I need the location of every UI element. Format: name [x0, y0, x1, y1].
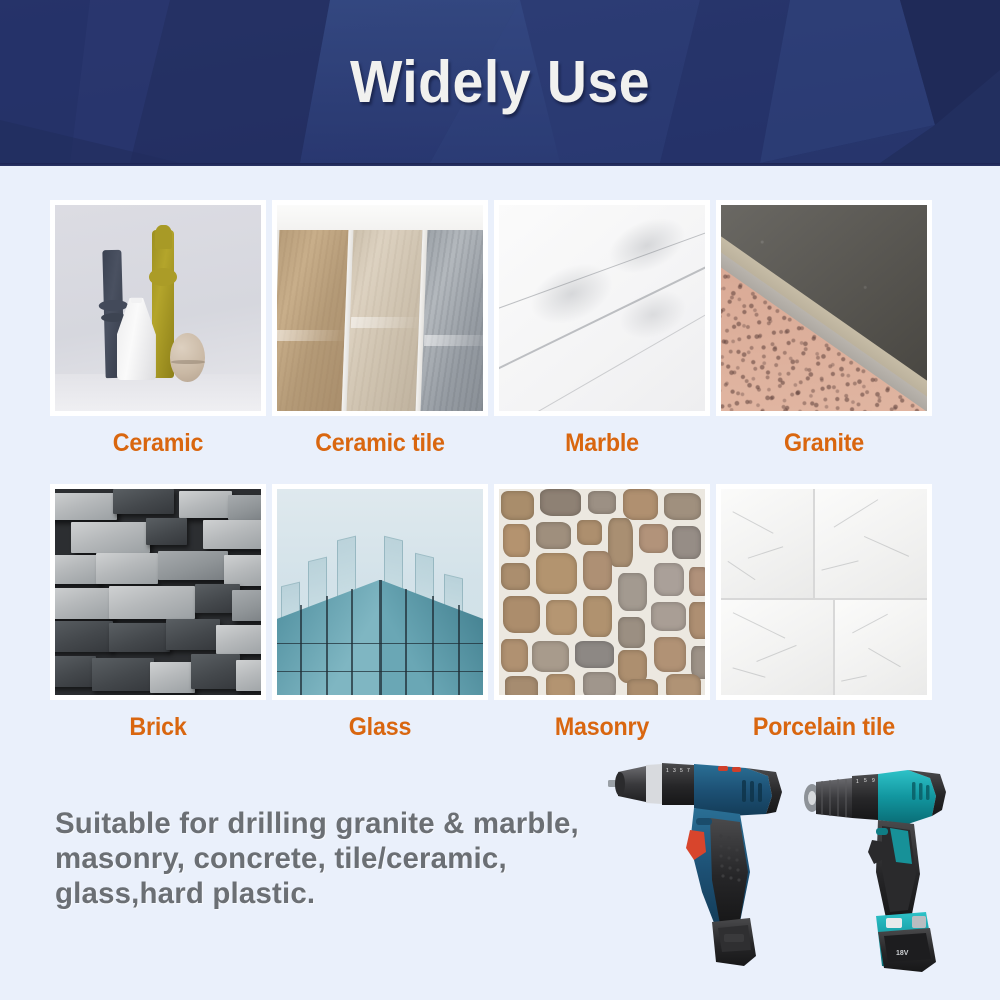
glass-building-facade-photo [277, 489, 483, 695]
thumb-frame [716, 200, 932, 416]
grey-brick-wall-photo [55, 489, 261, 695]
thumb-frame [50, 484, 266, 700]
suitability-line-2: masonry, concrete, tile/ceramic, [55, 841, 623, 876]
material-card-ceramic-tile: Ceramic tile [272, 200, 488, 458]
material-card-porcelain-tile: Porcelain tile [716, 484, 932, 742]
banner-divider [0, 163, 1000, 166]
stone-masonry-wall-photo [499, 489, 705, 695]
svg-text:1: 1 [856, 779, 859, 785]
material-card-marble: Marble [494, 200, 710, 458]
page-title: Widely Use [30, 0, 970, 163]
material-label: Porcelain tile [724, 700, 925, 742]
suitability-line-1: Suitable for drilling granite & marble, [55, 806, 623, 841]
svg-text:18V: 18V [896, 950, 909, 957]
suitability-description: Suitable for drilling granite & marble, … [55, 806, 623, 911]
material-card-glass: Glass [272, 484, 488, 742]
svg-text:1: 1 [666, 768, 669, 774]
material-label: Granite [724, 416, 925, 458]
svg-text:9: 9 [872, 778, 875, 784]
product-drill-images: 1357 [590, 752, 990, 982]
materials-grid-row2: Brick [50, 484, 954, 742]
material-card-brick: Brick [50, 484, 266, 742]
material-card-granite: Granite [716, 200, 932, 458]
materials-grid-row1: Ceramic Ceramic tile Marble [50, 200, 954, 458]
white-marble-slab-photo [499, 205, 705, 411]
thumb-frame [50, 200, 266, 416]
material-label: Brick [58, 700, 259, 742]
ceramic-vases-photo [55, 205, 261, 411]
svg-text:3: 3 [673, 768, 676, 774]
granite-slab-stack-photo [721, 205, 927, 411]
cordless-drill-blue: 1357 [608, 763, 782, 966]
suitability-line-3: glass,hard plastic. [55, 876, 623, 911]
cordless-drill-teal: 159 18V [804, 770, 946, 972]
material-label: Masonry [502, 700, 703, 742]
white-porcelain-tile-photo [721, 489, 927, 695]
material-card-ceramic: Ceramic [50, 200, 266, 458]
material-label: Glass [280, 700, 481, 742]
svg-text:5: 5 [864, 778, 867, 784]
thumb-frame [494, 200, 710, 416]
drills-illustration: 1357 [590, 752, 990, 982]
thumb-frame [494, 484, 710, 700]
svg-text:5: 5 [680, 768, 683, 774]
header-banner: Widely Use [0, 0, 1000, 163]
thumb-frame [272, 484, 488, 700]
material-card-masonry: Masonry [494, 484, 710, 742]
thumb-frame [272, 200, 488, 416]
material-label: Ceramic [58, 416, 259, 458]
ceramic-tile-slabs-photo [277, 205, 483, 411]
material-label: Marble [502, 416, 703, 458]
material-label: Ceramic tile [280, 416, 481, 458]
thumb-frame [716, 484, 932, 700]
svg-text:7: 7 [687, 768, 690, 774]
